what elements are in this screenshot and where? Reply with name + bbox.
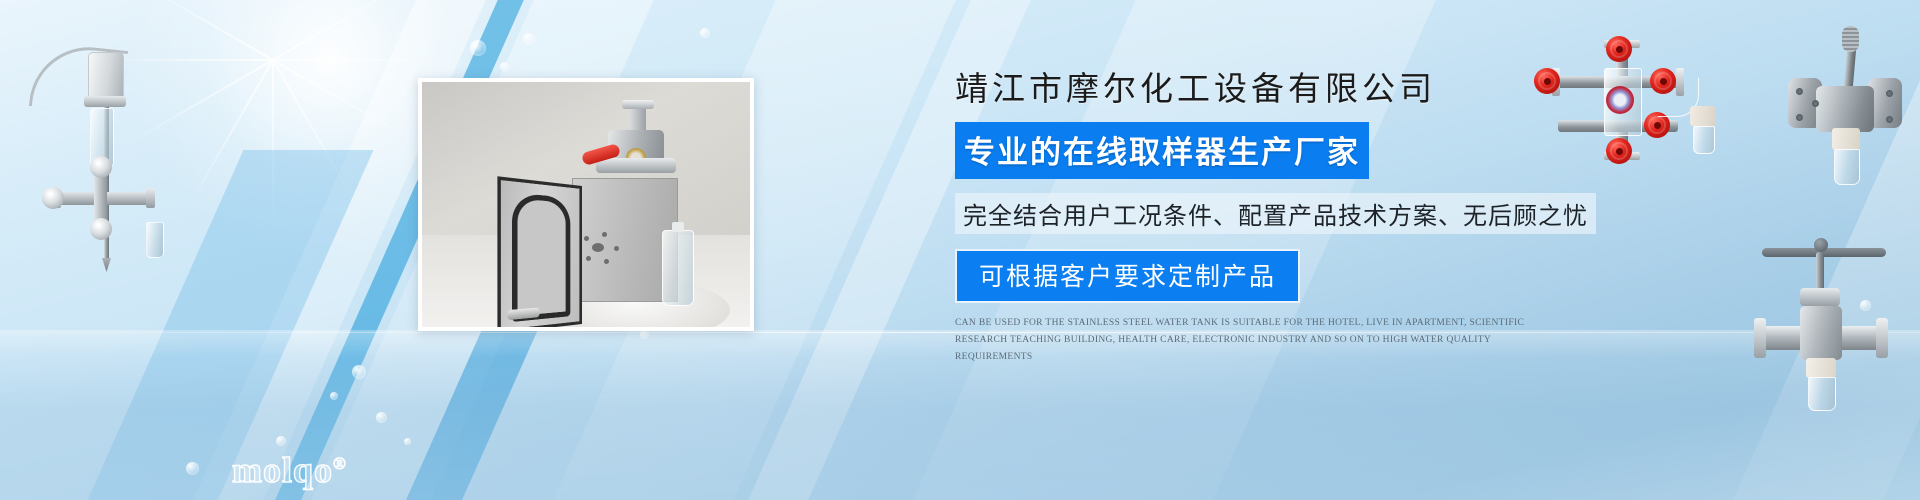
water-droplet-icon [523, 33, 535, 45]
brand-watermark: molqo® [232, 452, 347, 488]
sampler-valve-cross [50, 166, 158, 234]
flange-bolt [1886, 116, 1893, 123]
sun-ray-icon [273, 59, 443, 61]
brand-seal-icon [1606, 86, 1634, 114]
promo-banner: 靖江市摩尔化工设备有限公司 专业的在线取样器生产厂家 完全结合用户工况条件、配置… [0, 0, 1920, 500]
english-description: CAN BE USED FOR THE STAINLESS STEEL WATE… [955, 315, 1555, 365]
collection-cup-holder [1690, 106, 1716, 126]
valve-body [1816, 86, 1874, 132]
valve-stem-cap [622, 100, 654, 109]
sample-vial [1834, 149, 1860, 185]
valve-flange [1876, 318, 1888, 358]
flange-bolt [1796, 114, 1803, 121]
product-photo-inner [422, 82, 750, 327]
sample-bottle [662, 230, 694, 306]
banner-text-block: 靖江市摩尔化工设备有限公司 专业的在线取样器生产厂家 完全结合用户工况条件、配置… [955, 72, 1575, 365]
cabinet-door [497, 176, 582, 331]
valve-flange [146, 188, 155, 208]
flanged-lever-sampler-valve [1790, 34, 1910, 184]
valve-flange [1754, 318, 1766, 358]
sample-vial [1693, 126, 1715, 154]
water-droplet-icon [352, 365, 366, 379]
sampler-cylinder-cap [84, 96, 126, 107]
water-droplet-icon [700, 28, 710, 38]
sample-vial [146, 222, 164, 258]
company-name: 靖江市摩尔化工设备有限公司 [955, 72, 1575, 108]
valve-flange [596, 158, 676, 173]
water-droplet-icon [330, 392, 338, 400]
sun-ray-icon [272, 60, 359, 208]
cabinet-vent-holes [580, 232, 622, 266]
custom-product-cta[interactable]: 可根据客户要求定制产品 [955, 249, 1300, 303]
pipeline-sampler-on-stand [10, 30, 160, 280]
collection-cup-holder [1806, 358, 1836, 378]
flange-bolt [1796, 88, 1803, 95]
sampler-valve-head [590, 102, 682, 186]
cabinet-door-window [512, 192, 570, 321]
water-droplet-icon [500, 62, 509, 71]
sun-ray-icon [187, 60, 274, 208]
banner-subline: 完全结合用户工况条件、配置产品技术方案、无后顾之忧 [955, 193, 1596, 234]
water-droplet-icon [276, 436, 286, 446]
valve-body [1800, 306, 1842, 360]
water-droplet-icon [376, 412, 387, 423]
valve-handwheel [90, 218, 112, 240]
flange-bolt [1812, 100, 1819, 107]
banner-headline: 专业的在线取样器生产厂家 [955, 122, 1369, 179]
flange-bolt [1886, 90, 1893, 97]
valve-bonnet [1800, 288, 1840, 306]
water-droplet-icon [470, 40, 486, 56]
registered-mark-icon: ® [333, 454, 347, 473]
brand-watermark-text: molqo [232, 450, 333, 490]
sampler-cylinder [88, 52, 124, 102]
sampler-stand-tip [102, 258, 111, 272]
product-photo [418, 78, 754, 331]
valve-handwheel [1606, 138, 1632, 164]
sun-ray-icon [273, 59, 421, 146]
water-droplet-icon [404, 438, 411, 445]
valve-handle-knob [1814, 238, 1828, 252]
gate-valve-sampler [1752, 230, 1892, 400]
sun-ray-icon [272, 60, 274, 230]
water-droplet-icon [186, 462, 199, 475]
valve-lever-grip [1842, 26, 1859, 52]
valve-handwheel [90, 156, 112, 178]
sun-ray-icon [273, 0, 421, 61]
valve-handwheel [42, 187, 64, 209]
sample-vial [1808, 377, 1836, 411]
collection-cup-holder [1832, 128, 1860, 150]
valve-handwheel [1606, 36, 1632, 62]
